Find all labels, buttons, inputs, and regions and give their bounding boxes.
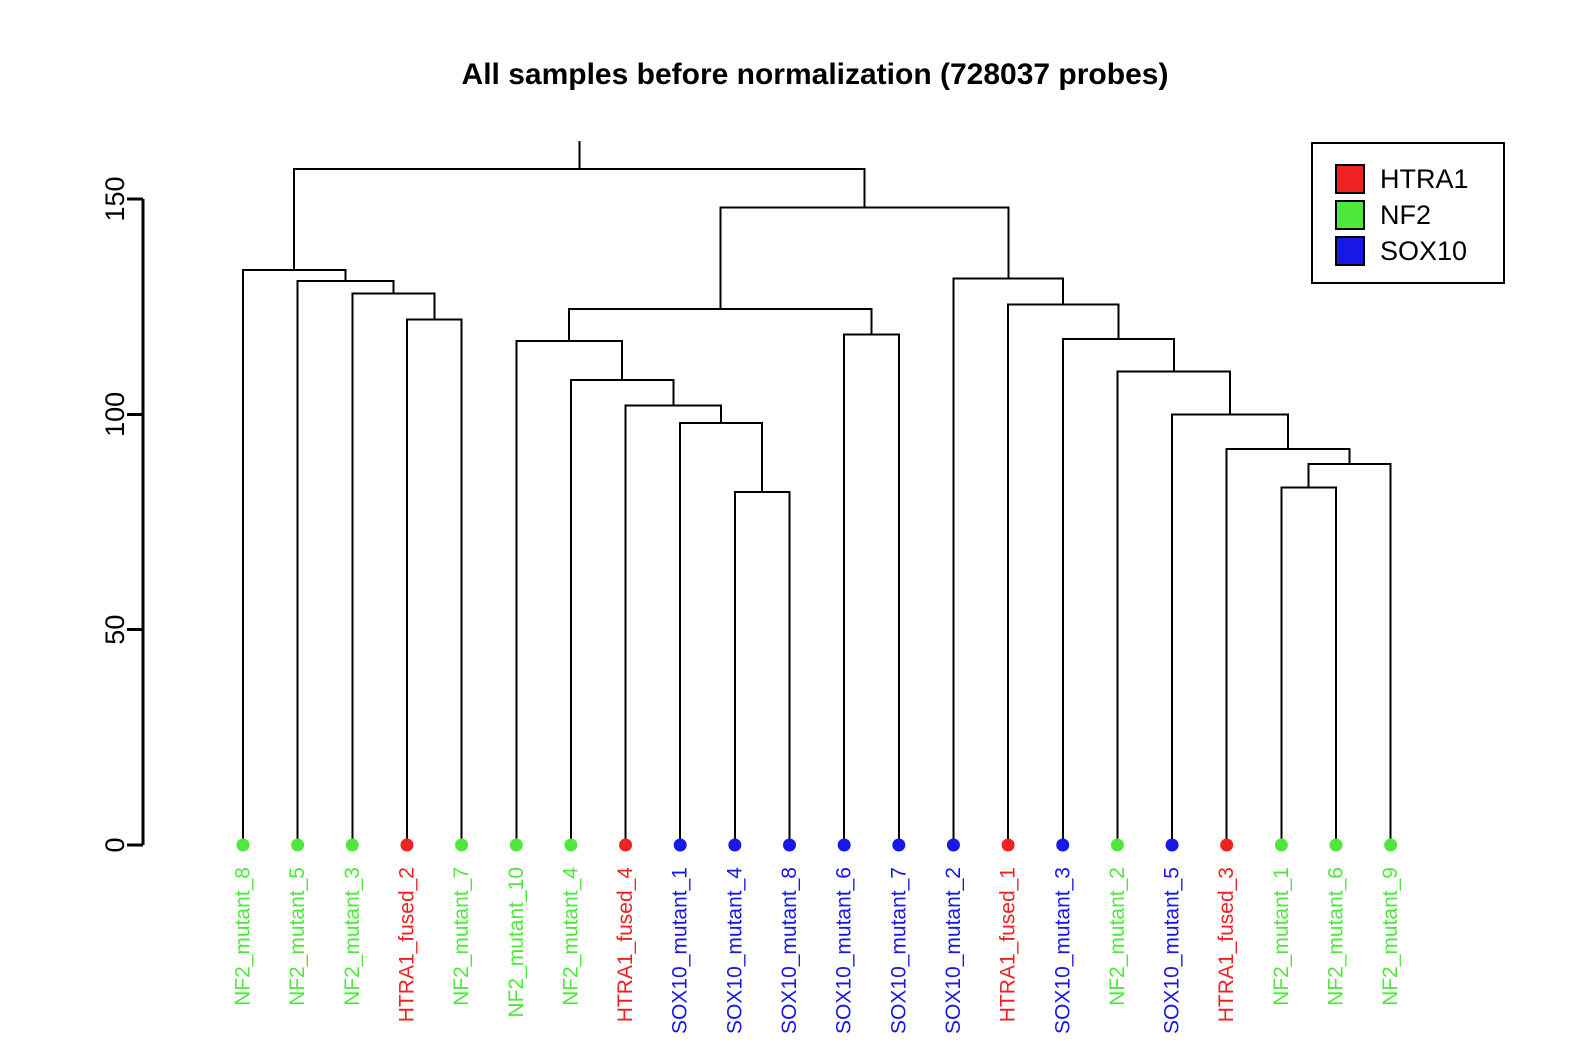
leaf-marker-dot	[564, 839, 577, 852]
dendrogram-plot-page: All samples before normalization (728037…	[0, 0, 1580, 1056]
leaf-marker-dot	[619, 839, 632, 852]
leaf-label: SOX10_mutant_5	[1161, 867, 1184, 1034]
leaf-label: SOX10_mutant_6	[833, 867, 856, 1034]
leaf-marker-dot	[291, 839, 304, 852]
leaf-label: NF2_mutant_9	[1379, 867, 1402, 1006]
leaf-label: NF2_mutant_1	[1270, 867, 1293, 1006]
leaf-marker-dot	[1220, 839, 1233, 852]
leaf-marker-dot	[1111, 839, 1124, 852]
leaf-label: SOX10_mutant_4	[723, 867, 746, 1034]
leaf-marker-dot	[674, 839, 687, 852]
leaf-marker-dot	[892, 839, 905, 852]
legend-swatch-sox10	[1336, 237, 1364, 265]
leaf-marker-dot	[838, 839, 851, 852]
legend: HTRA1NF2SOX10	[1312, 143, 1504, 283]
y-axis-tick-label: 100	[100, 392, 130, 437]
leaf-label: NF2_mutant_2	[1106, 867, 1129, 1006]
leaf-label: SOX10_mutant_3	[1051, 867, 1074, 1034]
y-axis-tick-label: 0	[100, 837, 130, 852]
leaf-label: NF2_mutant_7	[450, 867, 473, 1006]
dendrogram-svg: All samples before normalization (728037…	[0, 0, 1580, 1056]
leaf-marker-dot	[783, 839, 796, 852]
y-axis-tick-label: 150	[100, 176, 130, 221]
page-title: All samples before normalization (728037…	[462, 58, 1169, 91]
legend-swatch-nf2	[1336, 201, 1364, 229]
leaf-marker-dot	[728, 839, 741, 852]
leaf-marker-dot	[346, 839, 359, 852]
leaf-label: NF2_mutant_4	[559, 867, 582, 1006]
leaf-label: HTRA1_fused_1	[997, 867, 1020, 1022]
leaf-label: SOX10_mutant_8	[778, 867, 801, 1034]
leaf-label: NF2_mutant_5	[286, 867, 309, 1006]
leaf-marker-dot	[1330, 839, 1343, 852]
leaf-marker-dot	[510, 839, 523, 852]
leaf-marker-dot	[1384, 839, 1397, 852]
legend-label-htra1: HTRA1	[1380, 164, 1469, 194]
leaf-marker-dot	[400, 839, 413, 852]
leaf-label: SOX10_mutant_1	[669, 867, 692, 1034]
leaf-label: NF2_mutant_10	[505, 867, 528, 1018]
leaf-label: HTRA1_fused_3	[1215, 867, 1238, 1022]
legend-label-nf2: NF2	[1380, 200, 1431, 230]
leaf-label: NF2_mutant_3	[341, 867, 364, 1006]
leaf-marker-dot	[237, 839, 250, 852]
legend-label-sox10: SOX10	[1380, 236, 1467, 266]
leaf-marker-dot	[1056, 839, 1069, 852]
leaf-marker-dot	[1002, 839, 1015, 852]
leaf-label: HTRA1_fused_4	[614, 867, 637, 1023]
leaf-marker-dot	[947, 839, 960, 852]
leaf-label: SOX10_mutant_2	[942, 867, 965, 1034]
leaf-marker-dot	[1166, 839, 1179, 852]
leaf-label: SOX10_mutant_7	[887, 867, 910, 1034]
leaf-label: NF2_mutant_8	[232, 867, 255, 1006]
leaf-marker-dot	[1275, 839, 1288, 852]
y-axis-tick-label: 50	[100, 615, 130, 645]
leaf-label: NF2_mutant_6	[1325, 867, 1348, 1006]
legend-swatch-htra1	[1336, 165, 1364, 193]
leaf-marker-dot	[455, 839, 468, 852]
leaf-label: HTRA1_fused_2	[395, 867, 418, 1022]
